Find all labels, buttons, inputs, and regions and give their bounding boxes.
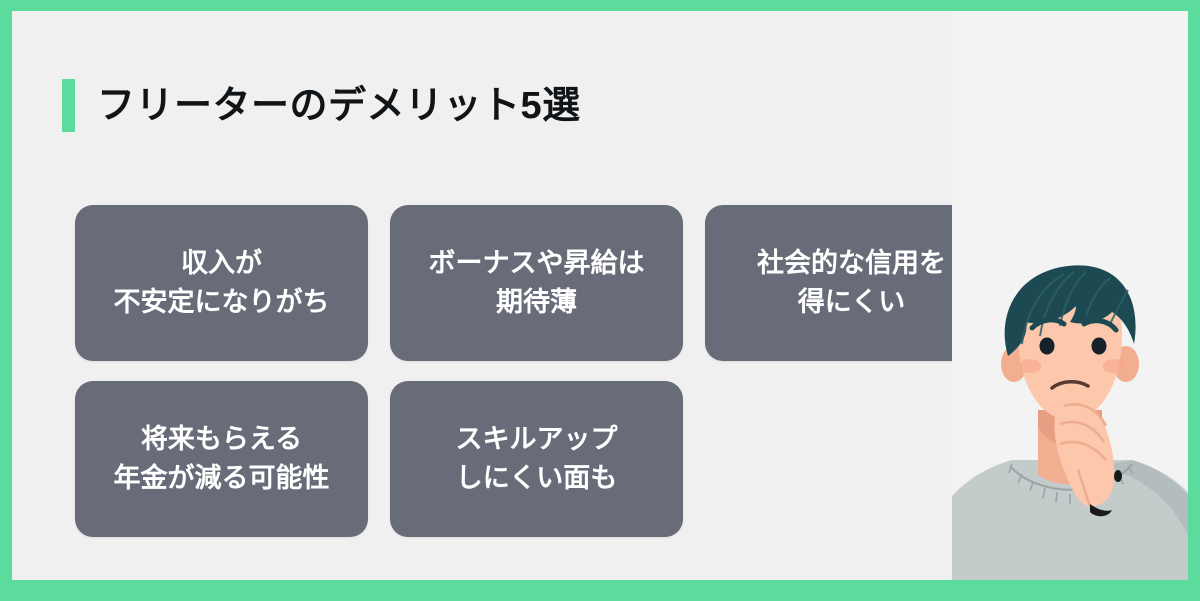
card-line-1: スキルアップ	[456, 420, 618, 459]
card-line-2: 不安定になりがち	[114, 283, 330, 322]
card-line-2: 得にくい	[798, 283, 905, 322]
thinking-man-svg	[952, 260, 1188, 580]
card-line-1: 将来もらえる	[141, 420, 302, 459]
card-line-1: ボーナスや昇給は	[429, 244, 645, 283]
fingernail-shape	[1114, 470, 1122, 482]
slide-root: フリーターのデメリット5選 収入が 不安定になりがち ボーナスや昇給は 期待薄 …	[0, 0, 1200, 601]
card-skillup[interactable]: スキルアップ しにくい面も	[390, 381, 683, 537]
slide-inner-panel: フリーターのデメリット5選 収入が 不安定になりがち ボーナスや昇給は 期待薄 …	[12, 11, 1188, 580]
page-title: フリーターのデメリット5選	[62, 79, 581, 132]
card-bonus[interactable]: ボーナスや昇給は 期待薄	[390, 205, 683, 361]
eye-left	[1040, 338, 1055, 355]
cheek-left	[1019, 359, 1041, 373]
card-line-2: しにくい面も	[456, 459, 617, 498]
card-line-1: 収入が	[181, 244, 262, 283]
card-line-2: 期待薄	[496, 283, 577, 322]
card-pension[interactable]: 将来もらえる 年金が減る可能性	[75, 381, 368, 537]
card-line-2: 年金が減る可能性	[114, 459, 330, 498]
card-line-1: 社会的な信用を	[757, 244, 946, 283]
card-income[interactable]: 収入が 不安定になりがち	[75, 205, 368, 361]
page-title-text: フリーターのデメリット5選	[97, 87, 581, 125]
thinking-man-illustration	[952, 11, 1188, 580]
title-accent-bar	[62, 79, 75, 132]
eye-right	[1092, 338, 1107, 355]
cheek-right	[1103, 359, 1125, 373]
demerit-card-grid: 収入が 不安定になりがち ボーナスや昇給は 期待薄 社会的な信用を 得にくい 将…	[75, 205, 1005, 537]
